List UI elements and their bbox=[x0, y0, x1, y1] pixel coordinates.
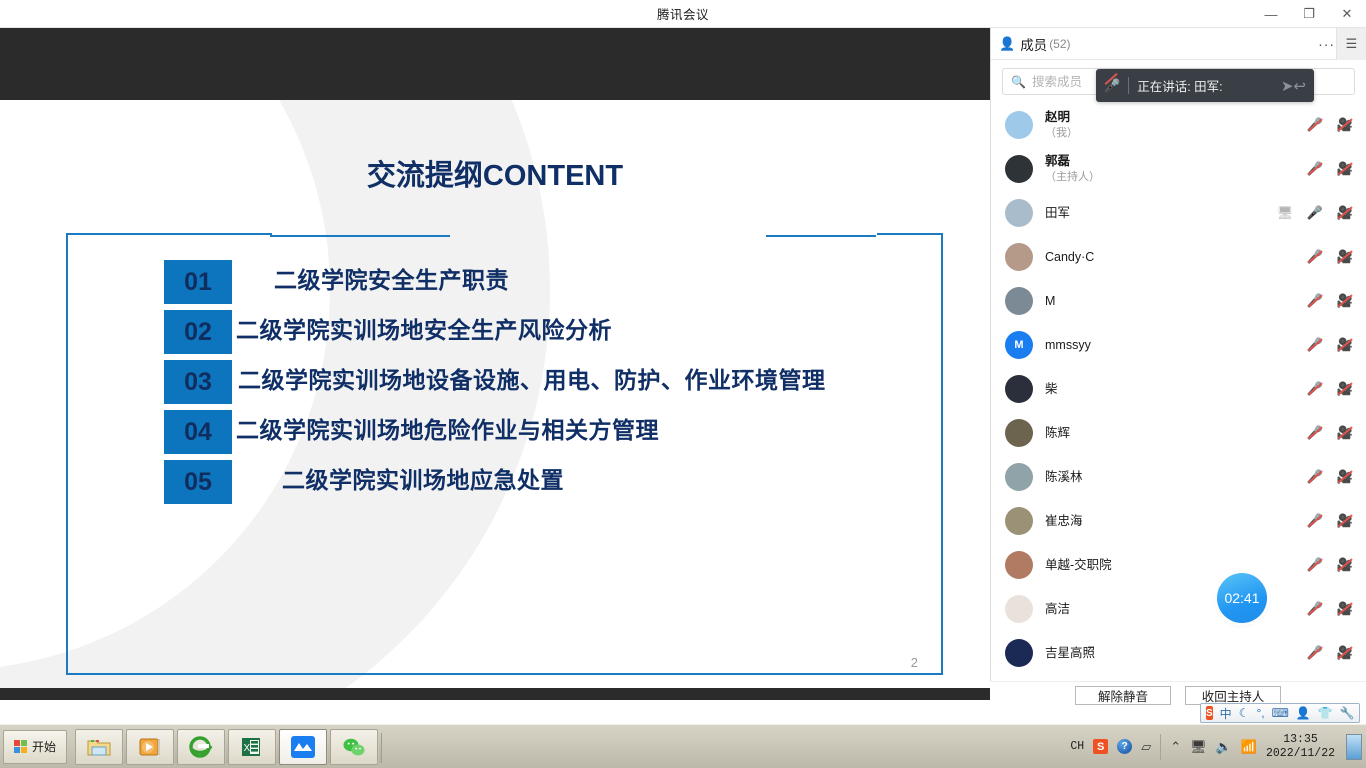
taskbar-item-excel[interactable]: X bbox=[228, 729, 276, 765]
participant-row[interactable]: 吉星高照🎤🎥 bbox=[991, 631, 1366, 675]
app-title: 腾讯会议 bbox=[657, 4, 709, 23]
slide-item-text: 二级学院实训场地安全生产风险分析 bbox=[232, 310, 612, 346]
camera-off-icon[interactable]: 🎥 bbox=[1337, 558, 1353, 572]
start-label: 开始 bbox=[32, 738, 56, 755]
slide-item-number: 03 bbox=[164, 360, 232, 404]
tray-expand-icon[interactable]: ⌃ bbox=[1170, 739, 1181, 755]
avatar bbox=[1005, 155, 1033, 183]
camera-off-icon[interactable]: 🎥 bbox=[1337, 514, 1353, 528]
participant-name: M bbox=[1045, 294, 1055, 308]
help-tray-icon[interactable]: ? bbox=[1117, 739, 1132, 754]
taskbar-item-media-player[interactable] bbox=[126, 729, 174, 765]
title-rule-left bbox=[270, 235, 450, 237]
clock-date: 2022/11/22 bbox=[1266, 747, 1335, 760]
microphone-muted-icon[interactable]: 🎤 bbox=[1307, 162, 1323, 176]
participants-panel: 👤 成员 (52) ··· ✕ ☰ 🔍 🎤 正在讲话: 田军: ➤↩ 赵明（我）… bbox=[990, 28, 1366, 724]
show-desktop-button[interactable] bbox=[1346, 734, 1362, 760]
participants-list[interactable]: 赵明（我）🎤🎥郭磊（主持人）🎤🎥田军🖥🎤🎥Candy·C🎤🎥M🎤🎥Mmmssyy… bbox=[991, 103, 1366, 700]
minimize-button[interactable]: — bbox=[1252, 0, 1290, 28]
participant-name: 崔忠海 bbox=[1045, 514, 1083, 528]
ime-skin-icon[interactable]: 👕 bbox=[1318, 706, 1333, 720]
windows-taskbar: 开始 bbox=[0, 724, 1366, 768]
participant-row[interactable]: 陈溪林🎤🎥 bbox=[991, 455, 1366, 499]
camera-off-icon[interactable]: 🎥 bbox=[1337, 294, 1353, 308]
person-icon: 👤 bbox=[999, 36, 1015, 52]
toast-divider bbox=[1128, 77, 1129, 94]
reply-arrows-icon: ➤↩ bbox=[1281, 77, 1306, 95]
slide-item-number: 04 bbox=[164, 410, 232, 454]
avatar bbox=[1005, 507, 1033, 535]
microphone-muted-icon[interactable]: 🎤 bbox=[1307, 514, 1323, 528]
signal-icon[interactable]: 📶 bbox=[1241, 739, 1257, 755]
tray-divider bbox=[1160, 734, 1161, 760]
microphone-muted-icon[interactable]: 🎤 bbox=[1307, 426, 1323, 440]
participant-row[interactable]: 赵明（我）🎤🎥 bbox=[991, 103, 1366, 147]
avatar bbox=[1005, 419, 1033, 447]
slide-item-text: 二级学院实训场地危险作业与相关方管理 bbox=[232, 410, 659, 446]
participant-name: 陈溪林 bbox=[1045, 470, 1083, 484]
avatar bbox=[1005, 375, 1033, 403]
ime-keyboard-icon[interactable]: ⌨ bbox=[1272, 706, 1289, 720]
speaking-label: 正在讲话: 田军: bbox=[1137, 76, 1222, 95]
camera-off-icon[interactable]: 🎥 bbox=[1337, 118, 1353, 132]
ime-punctuation-icon[interactable]: °, bbox=[1256, 706, 1264, 720]
clock-time: 13:35 bbox=[1266, 733, 1335, 746]
camera-off-icon[interactable]: 🎥 bbox=[1337, 206, 1353, 220]
tray-overflow-icon[interactable]: ▱ bbox=[1141, 739, 1151, 755]
avatar bbox=[1005, 287, 1033, 315]
slide-item: 03 二级学院实训场地设备设施、用电、防护、作业环境管理 bbox=[66, 360, 943, 404]
participant-row[interactable]: Candy·C🎤🎥 bbox=[991, 235, 1366, 279]
participants-title: 成员 bbox=[1020, 34, 1047, 54]
avatar bbox=[1005, 551, 1033, 579]
participant-role: （主持人） bbox=[1045, 171, 1100, 184]
microphone-active-icon[interactable]: 🎤 bbox=[1307, 206, 1323, 220]
camera-off-icon[interactable]: 🎥 bbox=[1337, 250, 1353, 264]
participant-row[interactable]: M🎤🎥 bbox=[991, 279, 1366, 323]
slide-item-number: 02 bbox=[164, 310, 232, 354]
camera-off-icon[interactable]: 🎥 bbox=[1337, 162, 1353, 176]
screen-share-icon: 🖥 bbox=[1277, 206, 1293, 220]
microphone-muted-icon[interactable]: 🎤 bbox=[1307, 338, 1323, 352]
microphone-muted-icon[interactable]: 🎤 bbox=[1307, 118, 1323, 132]
participant-name: 郭磊 bbox=[1045, 154, 1100, 168]
participant-name: 柴 bbox=[1045, 382, 1058, 396]
avatar bbox=[1005, 595, 1033, 623]
participant-row[interactable]: Mmmssyy🎤🎥 bbox=[991, 323, 1366, 367]
participant-role: （我） bbox=[1045, 127, 1078, 140]
microphone-muted-icon[interactable]: 🎤 bbox=[1307, 382, 1323, 396]
ime-toolbar[interactable]: S 中 ☾ °, ⌨ 👤 👕 🔧 bbox=[1200, 703, 1360, 723]
volume-icon[interactable]: 🔈 bbox=[1216, 739, 1232, 755]
taskbar-item-internet-explorer[interactable] bbox=[177, 729, 225, 765]
slide-title: 交流提纲CONTENT bbox=[0, 152, 990, 194]
camera-off-icon[interactable]: 🎥 bbox=[1337, 338, 1353, 352]
speaking-timer-bubble: 02:41 bbox=[1217, 573, 1267, 623]
taskbar-item-wechat[interactable] bbox=[330, 729, 378, 765]
microphone-muted-icon: 🎤 bbox=[1104, 78, 1120, 94]
unmute-button[interactable]: 解除静音 bbox=[1075, 686, 1171, 705]
camera-off-icon[interactable]: 🎥 bbox=[1337, 470, 1353, 484]
ime-moon-icon[interactable]: ☾ bbox=[1239, 706, 1250, 720]
slide-item-number: 05 bbox=[164, 460, 232, 504]
title-bar: 腾讯会议 — ❐ ✕ bbox=[0, 0, 1366, 28]
meeting-icon bbox=[290, 735, 316, 759]
clock[interactable]: 13:35 2022/11/22 bbox=[1266, 733, 1335, 759]
close-button[interactable]: ✕ bbox=[1328, 0, 1366, 28]
slide-item-text: 二级学院安全生产职责 bbox=[232, 260, 509, 296]
media-player-icon bbox=[138, 737, 162, 757]
start-button[interactable]: 开始 bbox=[3, 730, 67, 764]
microphone-muted-icon[interactable]: 🎤 bbox=[1307, 250, 1323, 264]
microphone-muted-icon[interactable]: 🎤 bbox=[1307, 470, 1323, 484]
folder-icon bbox=[87, 737, 111, 757]
microphone-muted-icon[interactable]: 🎤 bbox=[1307, 294, 1323, 308]
presentation-slide: 交流提纲CONTENT 01 二级学院安全生产职责 02 二级学院实训场地安全生… bbox=[0, 100, 990, 688]
speaking-toast: 🎤 正在讲话: 田军: ➤↩ bbox=[1096, 69, 1314, 102]
slide-item-list: 01 二级学院安全生产职责 02 二级学院实训场地安全生产风险分析 03 二级学… bbox=[66, 260, 943, 510]
avatar bbox=[1005, 199, 1033, 227]
participant-name: mmssyy bbox=[1045, 338, 1091, 352]
avatar: M bbox=[1005, 331, 1033, 359]
taskbar-item-tencent-meeting[interactable] bbox=[279, 729, 327, 765]
participant-row[interactable]: 陈辉🎤🎥 bbox=[991, 411, 1366, 455]
maximize-button[interactable]: ❐ bbox=[1290, 0, 1328, 28]
participant-row[interactable]: 单越-交职院🎤🎥 bbox=[991, 543, 1366, 587]
window-controls: — ❐ ✕ bbox=[1252, 0, 1366, 28]
microphone-muted-icon[interactable]: 🎤 bbox=[1307, 646, 1323, 660]
more-options-icon[interactable]: ··· bbox=[1318, 36, 1335, 52]
participant-name: 单越-交职院 bbox=[1045, 558, 1112, 572]
svg-text:X: X bbox=[244, 743, 251, 754]
participant-name: 陈辉 bbox=[1045, 426, 1070, 440]
microphone-muted-icon[interactable]: 🎤 bbox=[1307, 602, 1323, 616]
ime-tools-icon[interactable]: 🔧 bbox=[1340, 706, 1355, 720]
avatar bbox=[1005, 111, 1033, 139]
camera-off-icon[interactable]: 🎥 bbox=[1337, 602, 1353, 616]
slide-page-number: 2 bbox=[911, 655, 918, 670]
taskbar-items: X bbox=[75, 729, 378, 765]
panel-menu-icon[interactable]: ☰ bbox=[1336, 28, 1366, 60]
slide-item: 05 二级学院实训场地应急处置 bbox=[66, 460, 943, 504]
participant-name: 高洁 bbox=[1045, 602, 1070, 616]
participant-row[interactable]: 柴🎤🎥 bbox=[991, 367, 1366, 411]
slide-item: 04 二级学院实训场地危险作业与相关方管理 bbox=[66, 410, 943, 454]
camera-off-icon[interactable]: 🎥 bbox=[1337, 426, 1353, 440]
avatar bbox=[1005, 243, 1033, 271]
network-icon[interactable]: 🖥 bbox=[1190, 739, 1207, 755]
sogou-logo-icon[interactable]: S bbox=[1206, 706, 1213, 720]
title-rule-right bbox=[766, 235, 876, 237]
microphone-muted-icon[interactable]: 🎤 bbox=[1307, 558, 1323, 572]
tencent-meeting-window: 腾讯会议 — ❐ ✕ 交流提纲CONTENT 01 二级学院安全生产职责 02 bbox=[0, 0, 1366, 768]
system-tray: CH S ? ▱ ⌃ 🖥 🔈 📶 13:35 2022/11/22 bbox=[1070, 725, 1366, 768]
language-indicator[interactable]: CH bbox=[1070, 740, 1084, 753]
slide-item-text: 二级学院实训场地应急处置 bbox=[232, 460, 564, 496]
participant-row[interactable]: 郭磊（主持人）🎤🎥 bbox=[991, 147, 1366, 191]
ime-mode-icon[interactable]: 中 bbox=[1220, 705, 1232, 722]
shared-screen-letterbox-top bbox=[0, 28, 990, 100]
camera-off-icon[interactable]: 🎥 bbox=[1337, 646, 1353, 660]
shared-screen-area[interactable]: 交流提纲CONTENT 01 二级学院安全生产职责 02 二级学院实训场地安全生… bbox=[0, 28, 990, 700]
search-icon: 🔍 bbox=[1011, 75, 1026, 89]
sogou-tray-icon[interactable]: S bbox=[1093, 739, 1108, 754]
browser-icon bbox=[189, 736, 213, 758]
participant-name: 田军 bbox=[1045, 206, 1070, 220]
avatar bbox=[1005, 639, 1033, 667]
wechat-icon bbox=[342, 737, 366, 757]
participant-row[interactable]: 崔忠海🎤🎥 bbox=[991, 499, 1366, 543]
participant-name: Candy·C bbox=[1045, 250, 1094, 264]
camera-off-icon[interactable]: 🎥 bbox=[1337, 382, 1353, 396]
excel-icon: X bbox=[240, 737, 264, 757]
slide-item: 02 二级学院实训场地安全生产风险分析 bbox=[66, 310, 943, 354]
participants-count: (52) bbox=[1049, 37, 1070, 51]
ime-user-icon[interactable]: 👤 bbox=[1296, 706, 1311, 720]
participant-row[interactable]: 田军🖥🎤🎥 bbox=[991, 191, 1366, 235]
shared-screen-letterbox-bottom bbox=[0, 688, 990, 700]
slide-item: 01 二级学院安全生产职责 bbox=[66, 260, 943, 304]
participants-header: 👤 成员 (52) ··· ✕ ☰ bbox=[991, 28, 1366, 60]
slide-item-number: 01 bbox=[164, 260, 232, 304]
taskbar-item-file-explorer[interactable] bbox=[75, 729, 123, 765]
participant-row[interactable]: 高洁🎤🎥 bbox=[991, 587, 1366, 631]
avatar bbox=[1005, 463, 1033, 491]
participant-name: 吉星高照 bbox=[1045, 646, 1095, 660]
participant-name: 赵明 bbox=[1045, 110, 1078, 124]
slide-item-text: 二级学院实训场地设备设施、用电、防护、作业环境管理 bbox=[232, 360, 826, 396]
windows-logo-icon bbox=[14, 740, 28, 754]
